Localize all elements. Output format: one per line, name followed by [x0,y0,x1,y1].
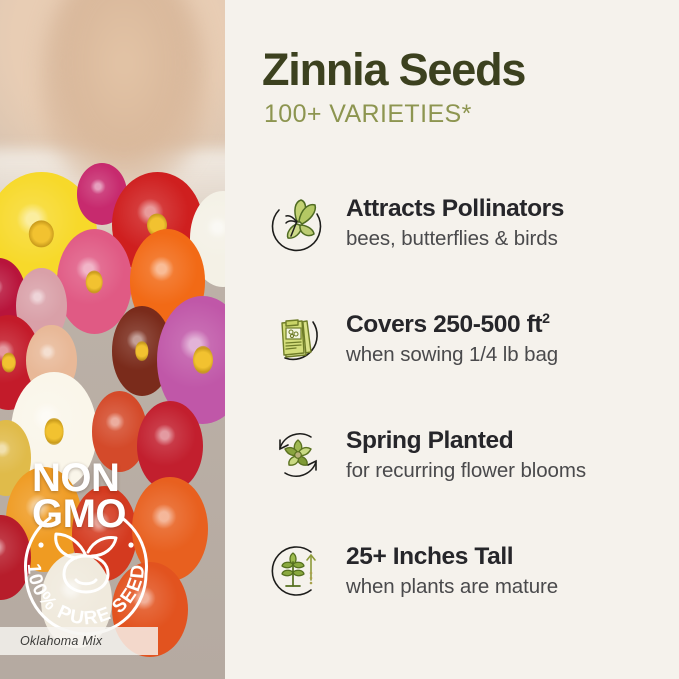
page-subtitle: 100+ VARIETIES* [264,100,679,129]
feature-title: Spring Planted [346,427,586,455]
page-title: Zinnia Seeds [262,46,679,93]
feature-subtitle: when sowing 1/4 lb bag [346,343,558,368]
butterfly-icon [262,187,334,259]
feature-text: 25+ Inches Tall when plants are mature [334,543,558,600]
flower-cycle-icon [262,419,334,491]
svg-text:100% PURE SEED: 100% PURE SEED [23,562,150,629]
person-silhouette [41,0,208,190]
feature-title-main: Covers 250-500 ft [346,311,542,338]
feature-attracts-pollinators: Attracts Pollinators bees, butterflies &… [262,165,679,281]
feature-coverage: Covers 250-500 ft2 when sowing 1/4 lb ba… [262,281,679,397]
feature-title: Covers 250-500 ft2 [346,311,558,339]
feature-spring-planted: Spring Planted for recurring flower bloo… [262,397,679,513]
seal-text: 100% PURE SEED [23,562,150,629]
content-panel: Zinnia Seeds 100+ VARIETIES* [225,0,679,679]
feature-list: Attracts Pollinators bees, butterflies &… [262,165,679,629]
pure-seed-seal: 100% PURE SEED [10,490,162,642]
seed-packet-icon [262,303,334,375]
feature-plant-height: 25+ Inches Tall when plants are mature [262,513,679,629]
photo-caption: Oklahoma Mix [0,634,102,648]
feature-title-superscript: 2 [542,311,550,327]
plant-height-icon [262,535,334,607]
product-infographic: NON GMO [0,0,679,679]
feature-subtitle: bees, butterflies & birds [346,227,564,252]
feature-subtitle: when plants are mature [346,575,558,600]
feature-text: Covers 250-500 ft2 when sowing 1/4 lb ba… [334,311,558,368]
photo-caption-bar: Oklahoma Mix [0,627,158,655]
feature-text: Spring Planted for recurring flower bloo… [334,427,586,484]
feature-subtitle: for recurring flower blooms [346,459,586,484]
feature-title: 25+ Inches Tall [346,543,558,571]
feature-title: Attracts Pollinators [346,195,564,223]
product-photo: NON GMO [0,0,225,679]
feature-text: Attracts Pollinators bees, butterflies &… [334,195,564,252]
non-gmo-badge: NON GMO [6,452,176,637]
